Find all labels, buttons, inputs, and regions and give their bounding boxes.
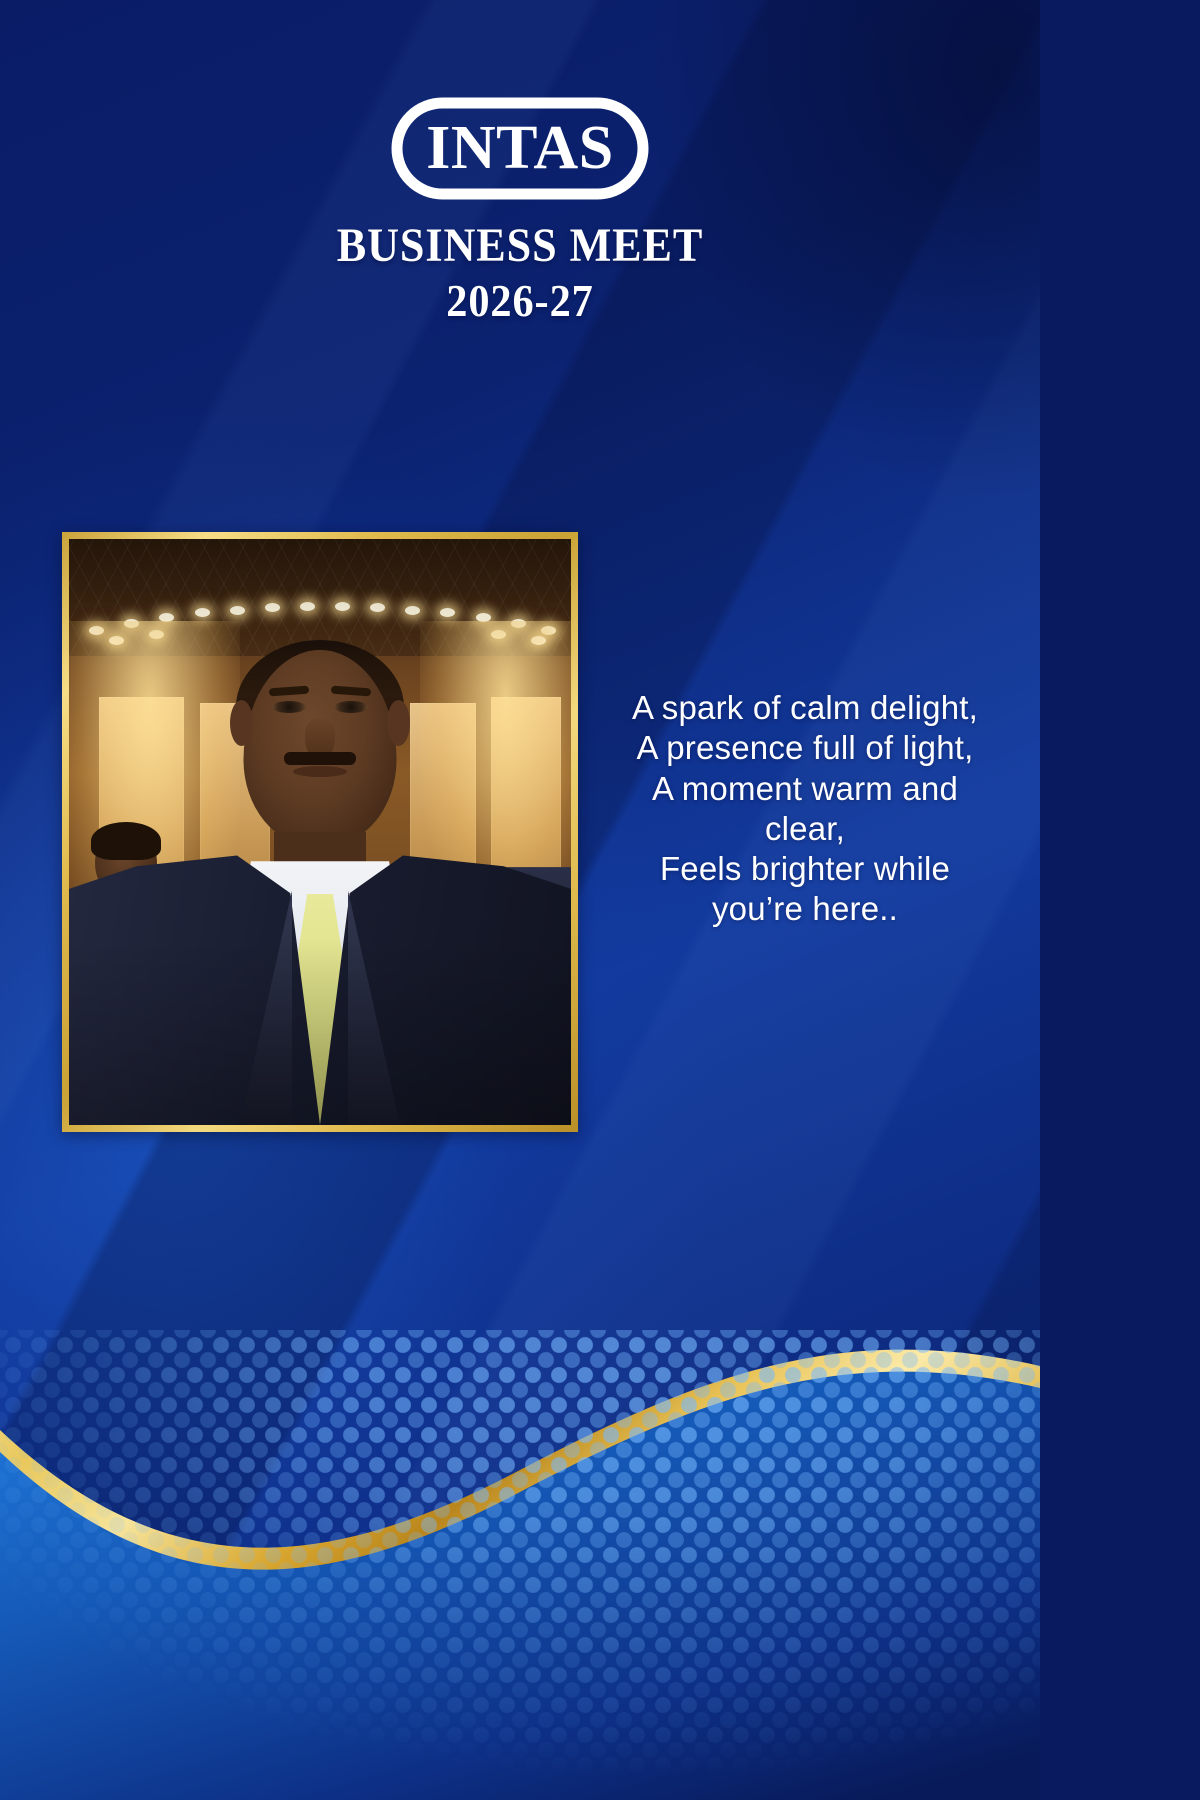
attendee-photo-frame xyxy=(62,532,578,1132)
event-title: BUSINESS MEET xyxy=(42,222,999,270)
poem-line-6: you’re here.. xyxy=(590,889,1020,929)
subject-moustache xyxy=(284,752,356,765)
poem-line-1: A spark of calm delight, xyxy=(590,688,1020,728)
poem-line-2: A presence full of light, xyxy=(590,728,1020,768)
poem-line-4: clear, xyxy=(590,809,1020,849)
intas-logo: INTAS xyxy=(390,96,650,201)
poster-canvas: INTAS BUSINESS MEET 2026-27 xyxy=(0,0,1040,1800)
event-year: 2026-27 xyxy=(42,278,999,324)
subject-ear xyxy=(230,700,253,746)
poem-line-3: A moment warm and xyxy=(590,769,1020,809)
greeting-poem: A spark of calm delight, A presence full… xyxy=(590,688,1020,930)
subject-eye xyxy=(272,701,306,713)
intas-logo-text: INTAS xyxy=(426,114,613,182)
poster-header: INTAS BUSINESS MEET 2026-27 xyxy=(0,96,1040,324)
attendee-photo xyxy=(69,539,571,1125)
subject-ear xyxy=(387,700,410,746)
subject-mouth xyxy=(293,766,347,777)
poem-line-5: Feels brighter while xyxy=(590,849,1020,889)
subject-eye xyxy=(334,701,368,713)
intas-stadium-logo-icon: INTAS xyxy=(397,103,643,194)
